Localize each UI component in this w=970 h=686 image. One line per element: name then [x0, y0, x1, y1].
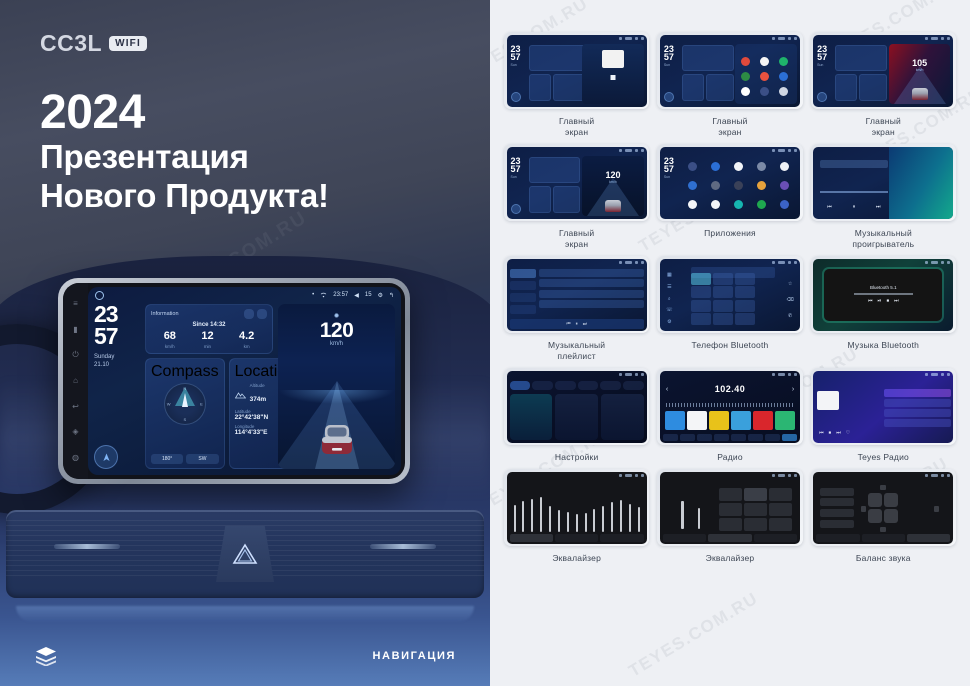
compass-card[interactable]: Compass N E S W [145, 358, 225, 469]
status-dot [772, 373, 775, 376]
stop-button[interactable] [610, 75, 615, 80]
thumbnail-frame[interactable]: ⏮⏸⏭ [504, 256, 649, 333]
eq-tab-eq[interactable] [663, 534, 706, 542]
eq-tab-fader[interactable] [555, 534, 598, 542]
thumb-media-panel [582, 44, 644, 104]
thumbnail-label: Радио [717, 452, 743, 463]
status-dot [925, 373, 928, 376]
key-2[interactable] [713, 273, 734, 285]
phone-actions[interactable]: ☆⌫✆ [784, 276, 796, 324]
playlist-row[interactable] [539, 269, 644, 277]
thumbnail-frame[interactable]: 102.40 ‹ › [657, 368, 802, 445]
backspace-icon[interactable]: ⌫ [787, 297, 794, 303]
call-icon[interactable]: ✆ [788, 313, 792, 319]
gear-icon[interactable]: ⚙ [378, 292, 383, 299]
thumbnail-screen: 2357Sun [660, 147, 800, 219]
favorite-icon[interactable]: ☆ [788, 281, 792, 287]
status-dot [947, 37, 950, 40]
bt-progress-bar[interactable] [854, 293, 913, 295]
thumb-status-bar [660, 147, 800, 154]
back-arrow-icon[interactable]: ↰ [389, 292, 394, 299]
sidebar-tab-artists[interactable] [510, 281, 536, 290]
prev-station-icon[interactable]: ‹ [666, 386, 668, 393]
thumbnail-frame[interactable]: 2357Sun 120km/h [504, 144, 649, 221]
tab-about[interactable] [623, 381, 644, 390]
toolbar-search[interactable] [680, 434, 695, 441]
balance-tab-eq[interactable] [816, 534, 859, 542]
status-dot [619, 261, 622, 264]
thumb-clock-sub: Sun [664, 176, 674, 179]
app-icon-bt-music[interactable] [734, 162, 743, 171]
gallery-item-equalizer-2[interactable]: Эквалайзер [657, 469, 802, 564]
prev-icon[interactable]: ⏮ [566, 321, 570, 326]
thumb-clock-sub: Sun [817, 64, 827, 67]
thumb-widgets [527, 157, 583, 215]
information-card[interactable]: Information Since 14:32 [145, 304, 273, 354]
key-5[interactable] [713, 286, 734, 298]
eq-slider-bass[interactable] [681, 501, 684, 529]
preset-pop[interactable] [769, 488, 792, 501]
compass-e: E [200, 402, 203, 407]
sidebar-tab-folders[interactable] [510, 305, 536, 314]
balance-preset[interactable] [820, 488, 854, 496]
app-icon-gallery[interactable] [780, 181, 789, 190]
preset-jazz[interactable] [744, 503, 767, 516]
thumbnail-frame[interactable]: Bluetooth 5.1 ⏮⏯⏹⏭ [811, 256, 956, 333]
thumb-clock: 2357Sun [511, 45, 521, 67]
speaker-front-right[interactable] [884, 493, 898, 507]
balance-tab-more[interactable] [907, 534, 950, 542]
preset-rock[interactable] [719, 503, 742, 516]
hazard-light-button[interactable] [216, 526, 274, 582]
app-icon-radio[interactable] [780, 200, 789, 209]
preset-2[interactable] [687, 411, 707, 430]
toolbar-list[interactable] [697, 434, 712, 441]
hardware-key-strip[interactable]: ≡ ▮ ⏻ ⌂ ↩ ◈ ◍ [63, 283, 88, 479]
thumbnail-frame[interactable]: 2357Sun 105km/h [811, 32, 956, 109]
toolbar-apps[interactable] [782, 434, 797, 441]
expand-icon[interactable] [257, 309, 267, 319]
thumbnail-frame[interactable]: ⏮⏹⏭♡ [811, 368, 956, 445]
station-row[interactable] [884, 409, 951, 417]
pause-icon[interactable]: ⏸ [576, 321, 578, 326]
compass-w: W [167, 402, 171, 407]
preset-1[interactable] [665, 411, 685, 430]
thumbnail-label: Баланс звука [856, 553, 911, 564]
status-dot [641, 373, 644, 376]
car-dashboard-photo: ≡ ▮ ⏻ ⌂ ↩ ◈ ◍ • [0, 228, 490, 686]
search-icon[interactable]: ⌕ [668, 296, 671, 302]
eq-tab-fader[interactable] [708, 534, 751, 542]
teyes-radio-controls[interactable]: ⏮⏹⏭♡ [819, 430, 850, 436]
settings-tabs[interactable] [510, 381, 644, 390]
eq-band[interactable] [593, 509, 595, 532]
next-icon[interactable]: ⏭ [583, 321, 587, 326]
volume-up-key[interactable]: ▮ [73, 326, 77, 334]
bluetooth-title: Bluetooth 5.1 [870, 285, 897, 290]
eq-tab-eq[interactable] [510, 534, 553, 542]
eq-band[interactable] [514, 505, 516, 533]
gallery-item-radio[interactable]: 102.40 ‹ › [657, 368, 802, 463]
watermark: TEYES.COM.RU [625, 588, 762, 681]
compass-dial: N E S W [164, 383, 206, 425]
home-key[interactable]: ⌂ [73, 377, 78, 385]
station-row[interactable] [884, 389, 951, 397]
calllog-icon[interactable]: ☏ [666, 307, 672, 313]
thumbnail-label: Teyes Радио [858, 452, 909, 463]
balance-down-button[interactable] [880, 527, 886, 532]
back-key[interactable]: ↩ [72, 403, 79, 411]
thumb-compass-card [682, 74, 704, 101]
balance-right-button[interactable] [934, 506, 939, 512]
app-icon-dvr[interactable] [734, 181, 743, 190]
thumbnail-label: Главныйэкран [559, 228, 594, 250]
head-unit-bezel: ≡ ▮ ⏻ ⌂ ↩ ◈ ◍ • [63, 283, 405, 479]
key-8[interactable] [713, 300, 734, 312]
speaker-rear-right[interactable] [884, 509, 898, 523]
app-icon-maps[interactable] [779, 57, 788, 66]
pause-icon[interactable]: ⏸ [853, 204, 856, 210]
status-dot [772, 37, 775, 40]
thumb-status-bar [660, 259, 800, 266]
dialpad-icon[interactable]: ▦ [667, 272, 672, 278]
balance-left-button[interactable] [861, 506, 866, 512]
thumb-status-bar [660, 371, 800, 378]
drive-view[interactable]: ✹ 120 km/h [278, 304, 395, 469]
volume-level: 15 [365, 292, 372, 298]
settings-icon[interactable]: ⚙ [667, 319, 671, 325]
eq-slider-treble[interactable] [698, 508, 701, 529]
home-circle-icon[interactable] [95, 291, 104, 300]
tab-sound[interactable] [532, 381, 553, 390]
thumb-drive-panel: 120km/h [582, 156, 644, 216]
stat-value: 12 [201, 331, 213, 342]
next-station-icon[interactable]: › [792, 386, 794, 393]
eq-band[interactable] [522, 501, 524, 532]
preset-dance[interactable] [719, 518, 742, 531]
app-icon-calculator[interactable] [757, 162, 766, 171]
settings-card-hotspot[interactable] [555, 394, 598, 440]
thumb-nav-fab[interactable] [817, 92, 827, 102]
balance-preset[interactable] [820, 509, 854, 517]
ui-screen[interactable]: • 23:57 ◀ 15 ⚙ ↰ [88, 287, 401, 475]
eq-band[interactable] [576, 514, 578, 533]
gallery-item-apps[interactable]: 2357Sun [657, 144, 802, 250]
preset-vocal[interactable] [769, 503, 792, 516]
prev-icon[interactable]: ⏮ [827, 204, 832, 210]
player-controls[interactable]: ⏮⏸⏭ [827, 204, 880, 210]
app-icon-chrome[interactable] [760, 57, 769, 66]
eq-band[interactable] [638, 507, 640, 532]
status-time-chip [778, 149, 785, 152]
preset-flat[interactable] [719, 488, 742, 501]
thumb-clock-sub: Sun [511, 64, 521, 67]
settings-card-wifi[interactable] [510, 394, 553, 440]
balance-preset-list[interactable] [820, 488, 854, 528]
dialpad[interactable] [691, 273, 756, 325]
navigation-arrow-icon[interactable] [94, 445, 118, 469]
speaker-rear-left[interactable] [868, 509, 882, 523]
status-time-chip [931, 474, 938, 477]
headline-line-1: Презентация [40, 138, 329, 177]
bt-controls[interactable]: ⏮⏯⏹⏭ [868, 298, 899, 304]
information-header: Information [151, 309, 267, 319]
mini-player-bar[interactable]: ⏮⏸⏭ [510, 319, 644, 329]
thumb-status-bar [813, 371, 953, 378]
status-time-chip [625, 261, 632, 264]
thumbnail-frame[interactable]: 2357Sun [504, 32, 649, 109]
preset-4[interactable] [731, 411, 751, 430]
gallery-item-balance[interactable]: Баланс звука [811, 469, 956, 564]
stat-duration: 12 min [201, 331, 213, 349]
station-artwork [817, 391, 839, 410]
app-icon-grid[interactable] [735, 53, 794, 101]
thumb-car [912, 88, 928, 100]
eq-band[interactable] [585, 513, 587, 533]
thumbnail-frame[interactable]: 2357Sun [657, 32, 802, 109]
status-dot [619, 373, 622, 376]
thumb-info-card [835, 45, 887, 71]
status-dot [794, 261, 797, 264]
thumb-status-bar [660, 35, 800, 42]
prev-icon[interactable]: ⏮ [868, 298, 873, 304]
settings-cards[interactable] [510, 394, 644, 440]
gallery-item-teyes-radio[interactable]: ⏮⏹⏭♡ Teyes Радио [811, 368, 956, 463]
favorite-icon[interactable]: ♡ [846, 430, 850, 436]
balance-tab-fader[interactable] [862, 534, 905, 542]
preset-classic[interactable] [744, 488, 767, 501]
gallery-item-bt-phone[interactable]: ▦☰⌕☏⚙ ☆⌫✆ Телефон Bluetooth [657, 256, 802, 362]
key-7[interactable] [691, 300, 712, 312]
thumbnail-label: Настройки [555, 452, 598, 463]
app-icon-google[interactable] [688, 200, 697, 209]
stop-icon[interactable]: ⏹ [887, 298, 890, 304]
gallery-item-bt-music[interactable]: Bluetooth 5.1 ⏮⏯⏹⏭ Музыка Bluetooth [811, 256, 956, 362]
gallery-item-home-apps[interactable]: 2357Sun [657, 32, 802, 138]
gallery-item-home-music[interactable]: 2357Sun Главныйэкран [504, 32, 649, 138]
app-icon-calls[interactable] [688, 162, 697, 171]
balance-preset[interactable] [820, 520, 854, 528]
next-icon[interactable]: ⏭ [836, 430, 841, 436]
app-icon-filemanager[interactable] [757, 181, 766, 190]
gps-icon: • [312, 292, 314, 298]
eq-band[interactable] [558, 510, 560, 532]
phone-sidebar[interactable]: ▦☰⌕☏⚙ [663, 270, 676, 328]
settings-card-more[interactable] [601, 394, 644, 440]
gallery-item-home-drive[interactable]: 2357Sun 105km/h Главныйэкран [811, 32, 956, 138]
stop-icon[interactable]: ⏹ [829, 430, 832, 436]
menu-key[interactable]: ≡ [73, 300, 78, 308]
thumbnail-screen [813, 472, 953, 544]
gallery-item-equalizer-1[interactable]: Эквалайзер [504, 469, 649, 564]
balance-preset[interactable] [820, 498, 854, 506]
refresh-icon[interactable] [244, 309, 254, 319]
thumb-status-bar [813, 259, 953, 266]
tuner-scale[interactable] [666, 403, 794, 407]
eq-band[interactable] [629, 504, 631, 533]
key-9[interactable] [735, 300, 756, 312]
radio-toolbar[interactable] [663, 434, 797, 441]
tab-wifi[interactable] [510, 381, 531, 390]
status-dot [788, 149, 791, 152]
eq-tab-more[interactable] [754, 534, 797, 542]
thumbnail-screen: Bluetooth 5.1 ⏮⏯⏹⏭ [813, 259, 953, 331]
hazard-triangle-icon [232, 542, 258, 566]
eq-tabs[interactable] [663, 534, 797, 542]
thumbnail-frame[interactable]: ⏮⏸⏭ [811, 144, 956, 221]
volume-icon[interactable]: ◀ [354, 292, 359, 299]
volume-down-key[interactable]: ◈ [72, 428, 78, 436]
contacts-icon[interactable]: ☰ [667, 284, 671, 290]
speed-readout: ✹ 120 km/h [278, 312, 395, 347]
playlist-row[interactable] [539, 300, 644, 308]
thumb-nav-fab[interactable] [511, 92, 521, 102]
speaker-front-left[interactable] [868, 493, 882, 507]
compass-title: Compass [151, 363, 219, 381]
thumbnail-screen: 2357Sun 120km/h [507, 147, 647, 219]
app-icon-play[interactable] [741, 87, 750, 96]
app-icon-bluetooth[interactable] [711, 162, 720, 171]
eq-band[interactable] [602, 506, 604, 533]
eq-band[interactable] [549, 506, 551, 532]
station-row[interactable] [884, 399, 951, 407]
station-row[interactable] [884, 419, 951, 427]
key-0[interactable] [713, 313, 734, 325]
eq-band[interactable] [531, 499, 533, 532]
eq-tab-more[interactable] [600, 534, 643, 542]
gallery-item-home-nav[interactable]: 2357Sun 120km/h Главныйэкран [504, 144, 649, 250]
key-1[interactable] [691, 273, 712, 285]
app-icon-music[interactable] [760, 72, 769, 81]
balance-up-button[interactable] [880, 485, 886, 490]
thumb-app-rail [735, 44, 797, 104]
tab-car[interactable] [578, 381, 599, 390]
preset-bass[interactable] [744, 518, 767, 531]
eq-band[interactable] [540, 497, 542, 533]
prev-icon[interactable]: ⏮ [819, 430, 824, 436]
key-6[interactable] [735, 286, 756, 298]
mic-key[interactable]: ◍ [72, 454, 79, 462]
tab-display[interactable] [555, 381, 576, 390]
key-4[interactable] [691, 286, 712, 298]
thumb-nav-fab[interactable] [664, 92, 674, 102]
toolbar-fav[interactable] [765, 434, 780, 441]
thumb-info-card [682, 45, 734, 71]
progress-bar[interactable] [820, 191, 887, 193]
power-key[interactable]: ⏻ [72, 351, 78, 359]
preset-6[interactable] [775, 411, 795, 430]
playlist-rows[interactable] [539, 269, 644, 317]
sidebar-tab-albums[interactable] [510, 293, 536, 302]
status-dot [941, 373, 944, 376]
app-icon-youtube[interactable] [741, 57, 750, 66]
gallery-item-music-playlist[interactable]: ⏮⏸⏭ Музыкальныйплейлист [504, 256, 649, 362]
playlist-sidebar[interactable] [510, 269, 536, 317]
toolbar-eq[interactable] [714, 434, 729, 441]
status-time-chip [931, 373, 938, 376]
station-presets[interactable] [665, 411, 794, 430]
thumb-nav-fab[interactable] [511, 204, 521, 214]
information-actions [244, 309, 267, 319]
thumbnail-frame[interactable] [504, 469, 649, 546]
thumbnail-frame[interactable] [811, 469, 956, 546]
station-list[interactable] [884, 389, 951, 440]
tab-system[interactable] [600, 381, 621, 390]
app-icon-extra[interactable] [760, 87, 769, 96]
app-icon-spotify[interactable] [741, 72, 750, 81]
balance-pad[interactable] [868, 493, 898, 523]
compass-s: S [183, 417, 186, 422]
eq-tabs[interactable] [510, 534, 644, 542]
app-icon-playstore[interactable] [757, 200, 766, 209]
app-icon-all[interactable] [779, 87, 788, 96]
toolbar-loc[interactable] [731, 434, 746, 441]
preset-3[interactable] [709, 411, 729, 430]
equalizer-bands[interactable] [514, 488, 640, 533]
thumbnail-frame[interactable]: 2357Sun [657, 144, 802, 221]
status-dot [947, 261, 950, 264]
status-dot [635, 149, 638, 152]
app-icon-camera[interactable] [780, 162, 789, 171]
status-dot [788, 37, 791, 40]
next-icon[interactable]: ⏭ [876, 204, 881, 210]
app-icon-musicplayer[interactable] [734, 200, 743, 209]
playlist-row[interactable] [539, 290, 644, 298]
eq-band[interactable] [620, 500, 622, 532]
key-star[interactable] [691, 313, 712, 325]
compass-needle [182, 393, 188, 407]
thumbnail-label: Музыкальныйплейлист [548, 340, 605, 362]
thumbnail-frame[interactable] [504, 368, 649, 445]
key-3[interactable] [735, 273, 756, 285]
eq-preset-grid[interactable] [719, 488, 792, 531]
gallery-item-music-player[interactable]: ⏮⏸⏭ Музыкальныйпроигрыватель [811, 144, 956, 250]
status-dot [925, 37, 928, 40]
status-dot [619, 37, 622, 40]
thumb-compass-card [529, 186, 551, 213]
toolbar-band[interactable] [663, 434, 678, 441]
app-icon-grid[interactable] [680, 156, 797, 216]
play-pause-icon[interactable]: ⏯ [878, 298, 882, 304]
thumbnail-frame[interactable]: ▦☰⌕☏⚙ ☆⌫✆ [657, 256, 802, 333]
key-hash[interactable] [735, 313, 756, 325]
headline-line-2: Нового Продукта! [40, 177, 329, 216]
track-title-bar [820, 160, 887, 168]
thumb-clock: 2357Sun [511, 157, 521, 179]
thumbnail-frame[interactable] [657, 469, 802, 546]
preset-5[interactable] [753, 411, 773, 430]
gallery-item-settings[interactable]: Настройки [504, 368, 649, 463]
app-icon-mail[interactable] [779, 72, 788, 81]
thumb-location-card [553, 74, 586, 101]
compass-cardinal: SW [186, 454, 218, 464]
eq-band[interactable] [611, 502, 613, 532]
sidebar-tab-all[interactable] [510, 269, 536, 278]
lower-widgets: Compass N E S W [145, 358, 273, 469]
toolbar-st[interactable] [748, 434, 763, 441]
app-icon-clock[interactable] [711, 181, 720, 190]
eq-dual-sliders[interactable] [674, 489, 708, 529]
thumbnail-label: Музыкальныйпроигрыватель [852, 228, 914, 250]
app-icon-maps[interactable] [711, 200, 720, 209]
playlist-row[interactable] [539, 279, 644, 287]
balance-tabs[interactable] [816, 534, 950, 542]
eq-band[interactable] [567, 512, 569, 533]
status-time-chip [778, 37, 785, 40]
preset-custom[interactable] [769, 518, 792, 531]
next-icon[interactable]: ⏭ [894, 298, 899, 304]
app-icon-chrome[interactable] [688, 181, 697, 190]
